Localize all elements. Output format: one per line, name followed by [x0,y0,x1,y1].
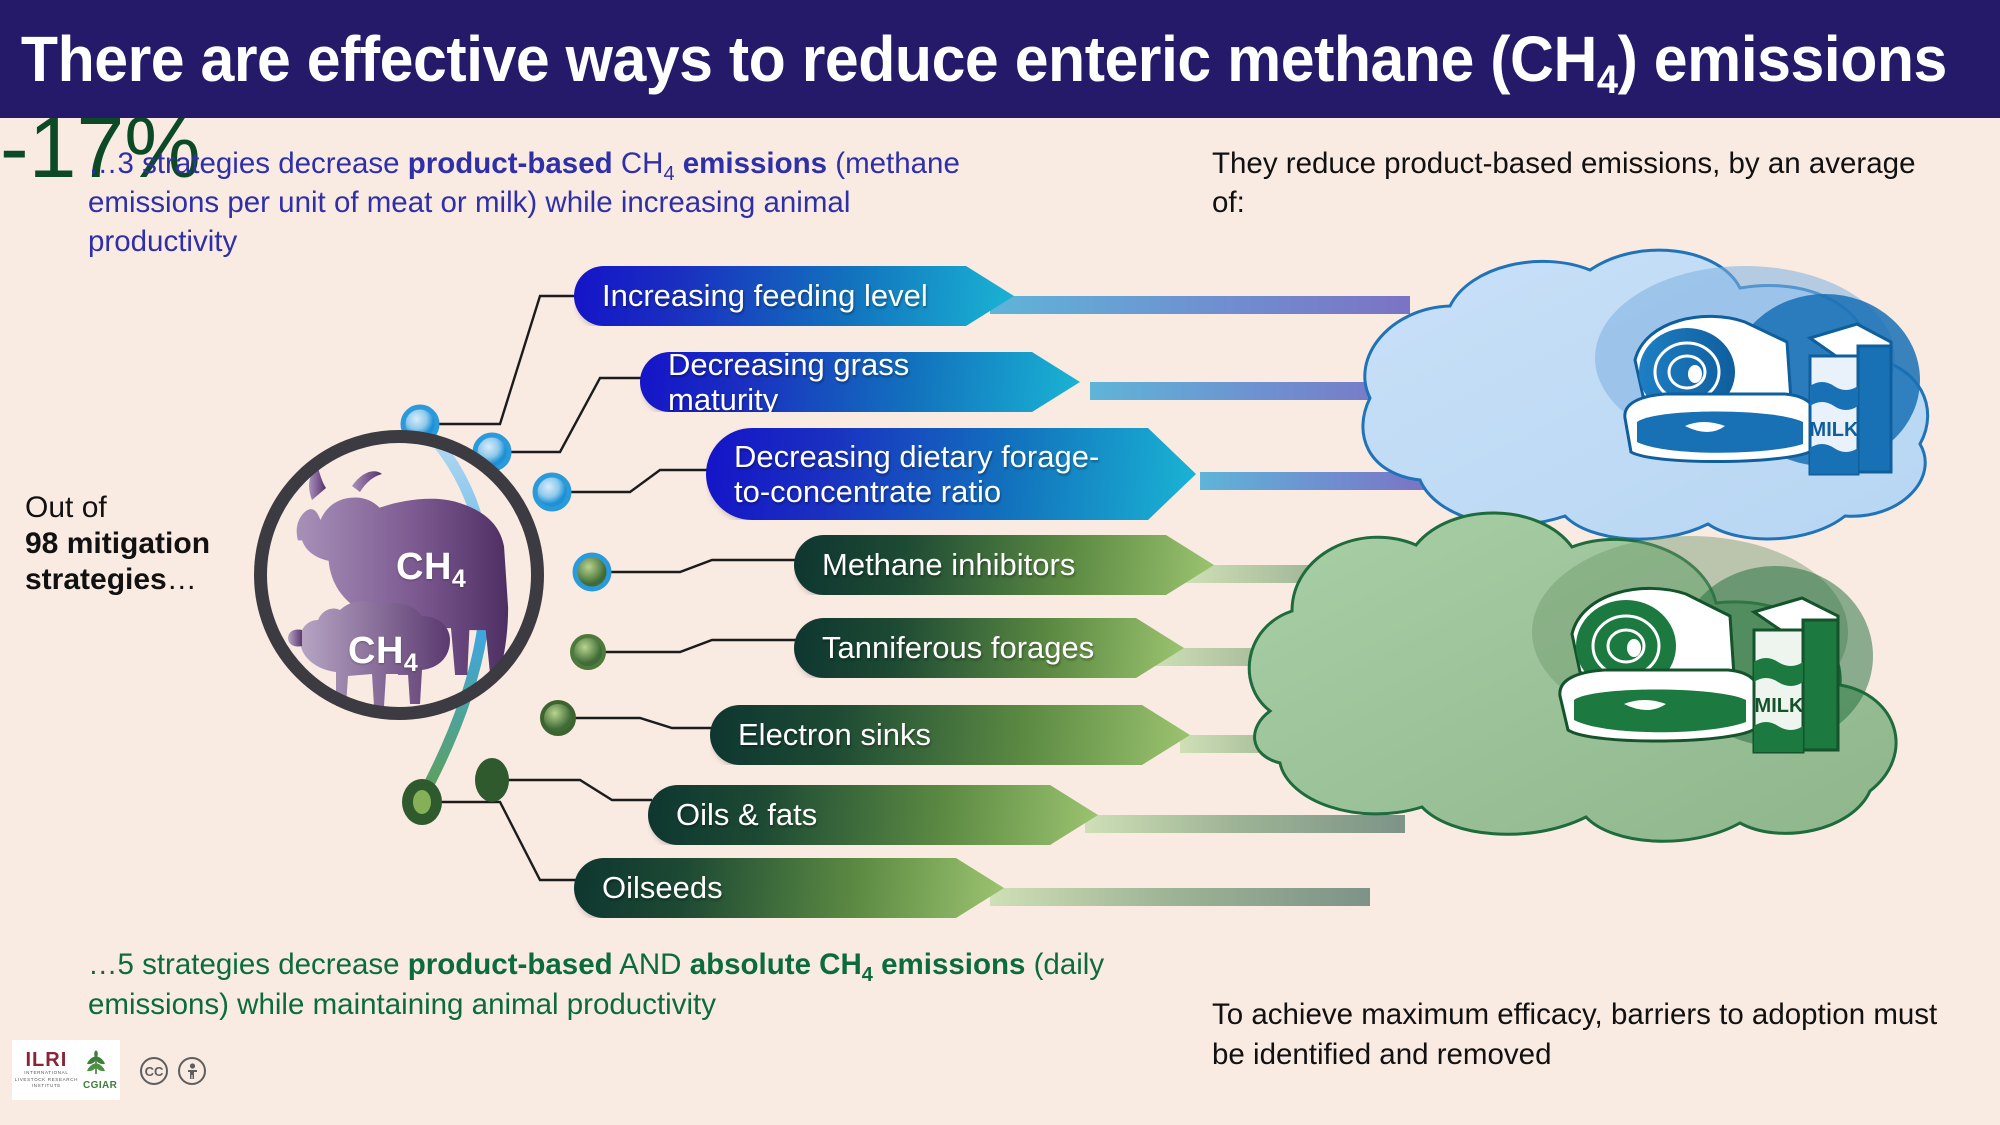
out-of-ellipsis: … [167,563,197,596]
strategy-pill-methane-inhibitors[interactable]: Methane inhibitors [794,535,1214,595]
milk-carton-label-blue: MILK [1810,419,1859,441]
ilri-sub-2: LIVESTOCK RESEARCH [15,1077,78,1084]
ch4-cow-text: CH [396,546,452,588]
intro-blue-b1: product-based [408,147,613,180]
strategy-pill-increasing-feeding-level[interactable]: Increasing feeding level [574,266,1014,326]
cgiar-wordmark: CGIAR [83,1080,117,1091]
ilri-sub-1: INTERNATIONAL [15,1070,78,1077]
outro-green-b2-text: absolute CH [690,948,862,981]
strategy-pill-oilseeds[interactable]: Oilseeds [574,858,1004,918]
creative-commons-icon: CC [140,1057,168,1085]
cgiar-wheat-icon [83,1050,109,1080]
outro-green-b3: emissions [873,948,1025,981]
out-of-label: Out of [25,490,240,526]
strategy-pill-electron-sinks[interactable]: Electron sinks [710,705,1190,765]
attribution-person-icon [178,1057,206,1085]
strategy-pill-decreasing-grass-maturity[interactable]: Decreasing grass maturity [640,352,1080,412]
mitigation-count-label: 98 mitigation strategies… [25,526,240,598]
page-title-text: There are effective ways to reduce enter… [21,23,1597,95]
intro-blue-p2: CH [613,147,664,180]
outro-right-text: To achieve maximum efficacy, barriers to… [1212,995,1952,1075]
page-title-subscript: 4 [1597,58,1618,102]
ilri-sub-3: INSTITUTE [15,1083,78,1090]
header-banner: There are effective ways to reduce enter… [0,0,2000,118]
dairy-illustration-green: MILK [1530,520,1860,760]
ch4-sheep-sub: 4 [404,649,418,677]
ch4-sheep-label: CH4 [348,630,418,673]
strategy-label: Tanniferous forages [822,630,1094,665]
strategy-label: Electron sinks [738,717,931,752]
outro-green-b1: product-based [408,948,613,981]
outro-green-p1: …5 strategies decrease [88,948,408,981]
strategy-label: Decreasing grass maturity [668,347,1010,417]
out-of-98-block: Out of 98 mitigation strategies… [25,490,240,598]
outro-green-p2: AND [613,948,690,981]
page-title: There are effective ways to reduce enter… [0,22,1947,96]
page-title-text-end: ) emissions [1618,23,1947,95]
strategy-label: Decreasing dietary forage-to-concentrate… [734,439,1126,509]
outro-green-text: …5 strategies decrease product-based AND… [88,945,1148,1025]
logo-ilri-cgiar: ILRI INTERNATIONAL LIVESTOCK RESEARCH IN… [12,1040,120,1100]
license-icons: CC [140,1057,206,1085]
strategy-label: Methane inhibitors [822,547,1075,582]
milk-carton-label-green: MILK [1755,695,1804,717]
intro-right-text: They reduce product-based emissions, by … [1212,144,1952,222]
intro-blue-p1: …3 strategies decrease [88,147,408,180]
intro-blue-text: …3 strategies decrease product-based CH4… [88,144,968,262]
strategy-label: Oils & fats [676,797,817,832]
strategy-pill-oils-and-fats[interactable]: Oils & fats [648,785,1098,845]
strategy-label: Oilseeds [602,870,723,905]
infographic-root: There are effective ways to reduce enter… [0,0,2000,1125]
outro-green-sub: 4 [862,964,873,986]
ch4-sheep-text: CH [348,630,404,672]
intro-blue-b2: emissions [675,147,827,180]
intro-blue-sub: 4 [663,163,674,185]
strategy-label: Increasing feeding level [602,278,928,313]
ch4-cow-label: CH4 [396,546,466,589]
strategy-pill-decreasing-dietary-forage-to-concentrate-ratio[interactable]: Decreasing dietary forage-to-concentrate… [706,428,1196,520]
dairy-illustration-blue: MILK [1595,250,1905,480]
outro-green-b2: absolute CH4 [690,948,873,981]
ribbon-oilseeds [990,888,1370,906]
ch4-cow-sub: 4 [452,565,466,593]
strategy-pill-tanniferous-forages[interactable]: Tanniferous forages [794,618,1184,678]
ilri-wordmark: ILRI [15,1050,78,1070]
